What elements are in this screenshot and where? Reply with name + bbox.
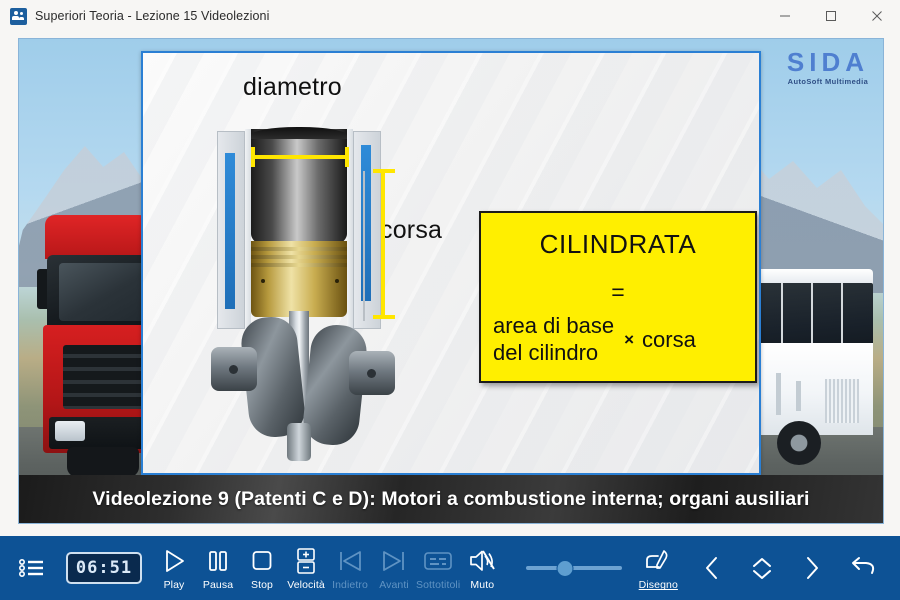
chevron-left-icon[interactable]: [690, 546, 734, 590]
application-window: Superiori Teoria - Lezione 15 Videolezio…: [0, 0, 900, 600]
measure-corsa: [381, 171, 385, 319]
sida-logo: SIDA AutoSoft Multimedia: [787, 49, 869, 86]
mute-button[interactable]: Muto: [460, 540, 504, 596]
window-title: Superiori Teoria - Lezione 15 Videolezio…: [35, 9, 269, 23]
previous-label: Indietro: [332, 579, 368, 591]
measure-diametro: [251, 155, 349, 159]
list-icon[interactable]: [10, 540, 54, 596]
minimize-icon[interactable]: [762, 0, 808, 32]
stop-label: Stop: [251, 579, 273, 591]
formula-equals: =: [481, 279, 755, 306]
slide-content-card: diametro corsa: [141, 51, 761, 475]
pause-button[interactable]: Pausa: [196, 540, 240, 596]
volume-slider-track: [526, 566, 622, 570]
title-bar: Superiori Teoria - Lezione 15 Videolezio…: [0, 0, 900, 32]
playback-timer: 06:51: [66, 552, 142, 584]
maximize-icon[interactable]: [808, 0, 854, 32]
volume-slider[interactable]: [526, 555, 622, 581]
speed-label: Velocità: [287, 579, 325, 591]
truck-image: [37, 215, 157, 485]
logo-tagline: AutoSoft Multimedia: [787, 77, 869, 86]
timer-value: 06:51: [76, 558, 132, 578]
formula-title: CILINDRATA: [481, 229, 755, 260]
formula-line-1: area di base: [493, 313, 614, 340]
navigation-controls: [690, 546, 884, 590]
users-icon: [10, 8, 27, 25]
stop-icon: [250, 546, 274, 576]
mute-icon: [468, 546, 496, 576]
speed-icon: [295, 546, 317, 576]
close-icon[interactable]: [854, 0, 900, 32]
speed-button[interactable]: Velocità: [284, 540, 328, 596]
mute-label: Muto: [470, 579, 494, 591]
stop-button[interactable]: Stop: [240, 540, 284, 596]
previous-button[interactable]: Indietro: [328, 540, 372, 596]
pen-icon: [643, 546, 673, 576]
subtitles-label: Sottotitoli: [416, 579, 460, 591]
chevron-right-icon[interactable]: [790, 546, 834, 590]
formula-right-term: corsa: [642, 327, 696, 353]
next-icon: [380, 546, 408, 576]
play-label: Play: [164, 579, 185, 591]
next-button[interactable]: Avanti: [372, 540, 416, 596]
play-button[interactable]: Play: [152, 540, 196, 596]
bus-image: [745, 269, 873, 479]
slide-caption-text: Videolezione 9 (Patenti C e D): Motori a…: [92, 488, 809, 511]
slide-stage[interactable]: SIDA AutoSoft Multimedia diametro corsa: [18, 38, 884, 524]
return-arrow-icon[interactable]: [840, 546, 884, 590]
formula-times-symbol: ×: [624, 330, 634, 350]
subtitles-icon: [423, 546, 453, 576]
player-toolbar: 06:51 Play Pausa Stop: [0, 536, 900, 600]
prev-icon: [336, 546, 364, 576]
formula-left-term: area di base del cilindro: [493, 313, 614, 367]
draw-button[interactable]: Disegno: [636, 540, 680, 596]
pause-icon: [206, 546, 230, 576]
volume-slider-thumb[interactable]: [557, 561, 572, 576]
play-icon: [161, 546, 187, 576]
formula-body: area di base del cilindro × corsa: [493, 313, 747, 367]
window-controls: [762, 0, 900, 32]
slide-stage-wrapper: SIDA AutoSoft Multimedia diametro corsa: [0, 32, 900, 536]
title-bar-left: Superiori Teoria - Lezione 15 Videolezio…: [0, 8, 269, 25]
label-diametro: diametro: [243, 73, 342, 102]
formula-line-2: del cilindro: [493, 340, 614, 367]
next-label: Avanti: [379, 579, 409, 591]
engine-cylinder-diagram: [203, 111, 413, 461]
logo-name: SIDA: [787, 49, 869, 75]
pause-label: Pausa: [203, 579, 233, 591]
subtitles-button[interactable]: Sottotitoli: [416, 540, 460, 596]
chevron-updown-icon[interactable]: [740, 546, 784, 590]
draw-label: Disegno: [639, 579, 678, 591]
slide-caption-bar: Videolezione 9 (Patenti C e D): Motori a…: [19, 475, 883, 523]
formula-box: CILINDRATA = area di base del cilindro ×…: [479, 211, 757, 383]
